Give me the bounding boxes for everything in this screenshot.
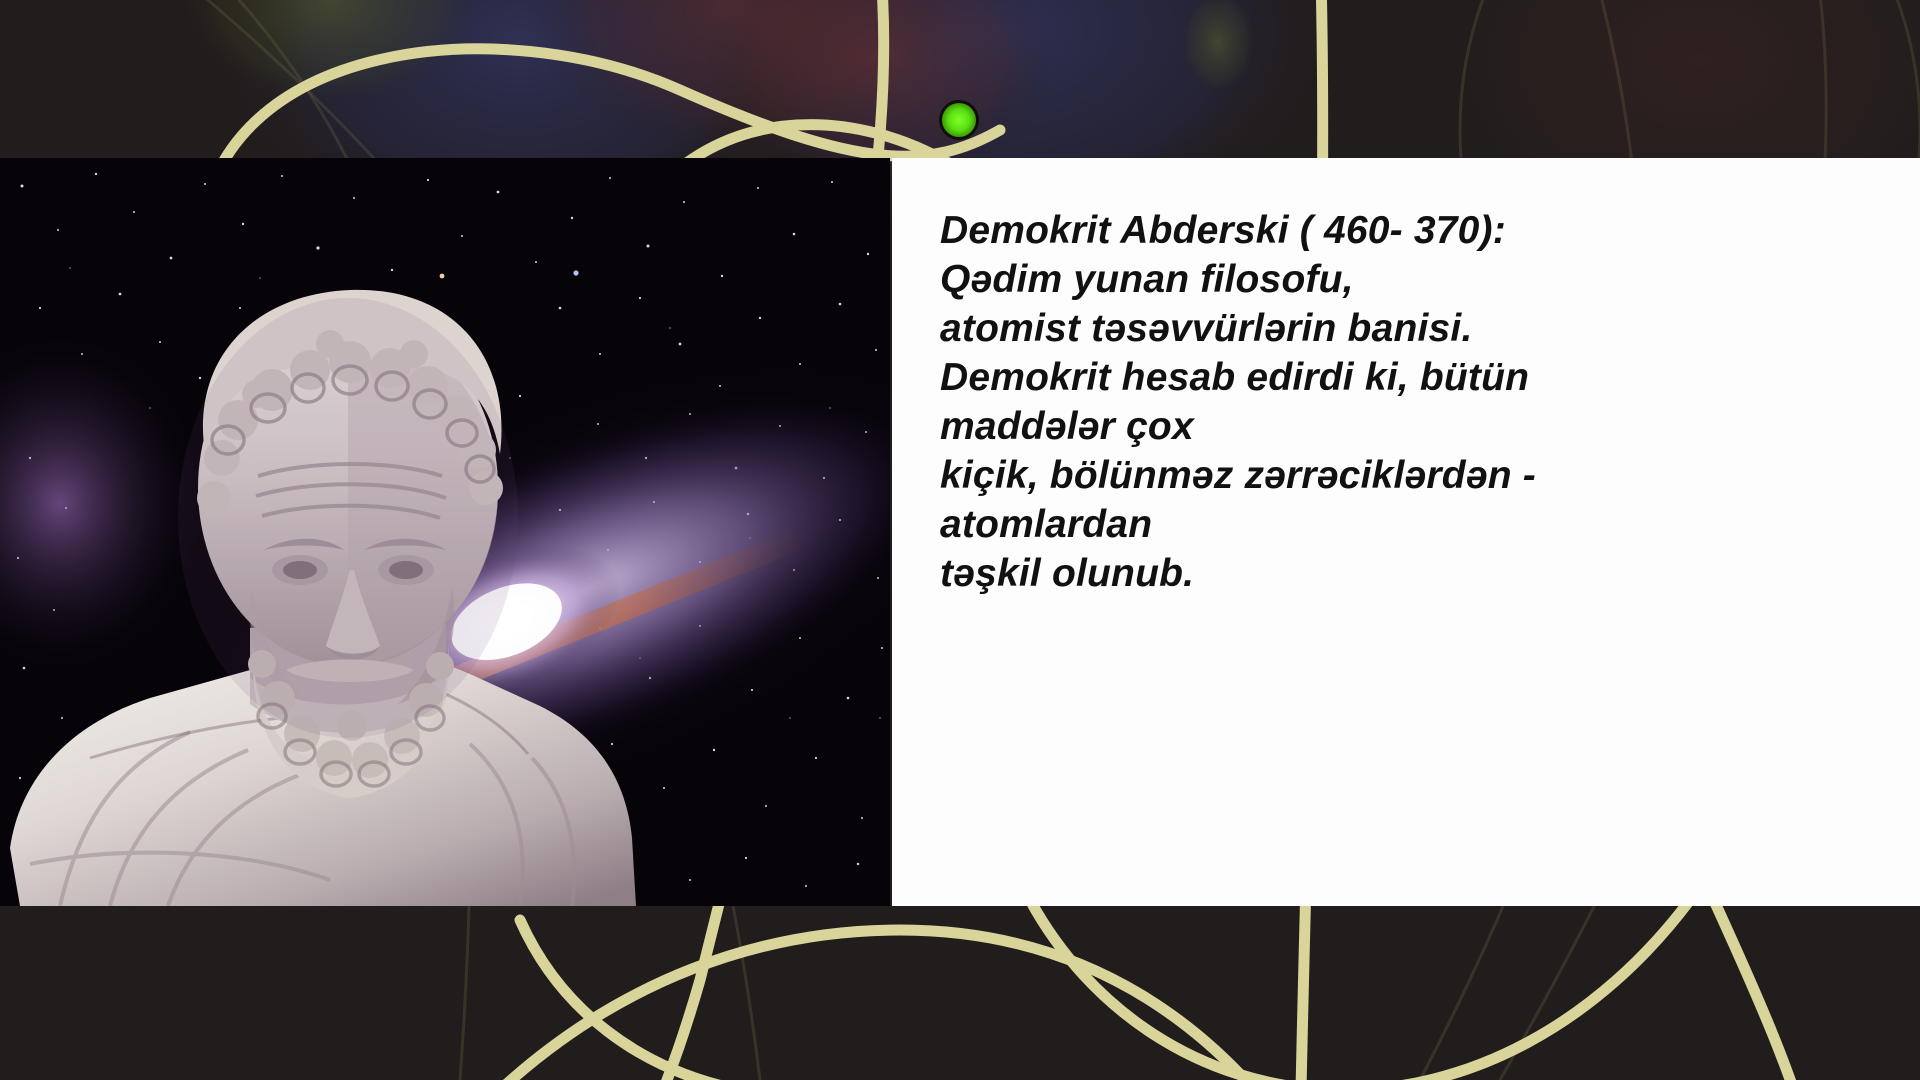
figure-panel [0,158,890,906]
text-panel: Demokrit Abderski ( 460- 370): Qədim yun… [892,158,1920,906]
slide-canvas: Demokrit Abderski ( 460- 370): Qədim yun… [0,0,1920,1080]
electron-dot [939,100,979,140]
slide-body-text: Demokrit Abderski ( 460- 370): Qədim yun… [940,206,1890,598]
galaxy-bust-image [0,158,890,906]
